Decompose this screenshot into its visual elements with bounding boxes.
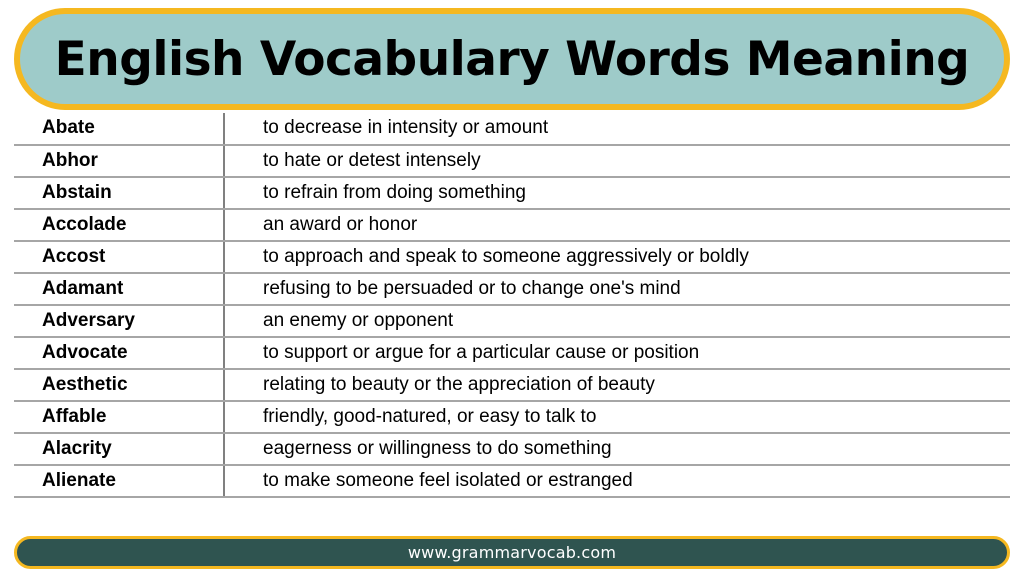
definition-cell: to decrease in intensity or amount <box>224 113 1010 145</box>
table-row: Adversaryan enemy or opponent <box>14 305 1010 337</box>
title-banner: English Vocabulary Words Meaning <box>14 8 1010 110</box>
vocabulary-word: Accost <box>14 247 223 268</box>
vocabulary-table-body: Abateto decrease in intensity or amountA… <box>14 113 1010 497</box>
vocabulary-word: Adversary <box>14 311 223 332</box>
word-cell: Affable <box>14 401 224 433</box>
page-title: English Vocabulary Words Meaning <box>55 36 970 83</box>
vocabulary-definition: an enemy or opponent <box>225 311 1010 332</box>
word-cell: Advocate <box>14 337 224 369</box>
vocabulary-word: Accolade <box>14 215 223 236</box>
word-cell: Accolade <box>14 209 224 241</box>
vocabulary-word: Advocate <box>14 343 223 364</box>
vocabulary-word: Adamant <box>14 279 223 300</box>
footer-bar: www.grammarvocab.com <box>14 536 1010 569</box>
table-row: Adamantrefusing to be persuaded or to ch… <box>14 273 1010 305</box>
table-row: Accostto approach and speak to someone a… <box>14 241 1010 273</box>
vocabulary-definition: to hate or detest intensely <box>225 151 1010 172</box>
table-row: Aestheticrelating to beauty or the appre… <box>14 369 1010 401</box>
word-cell: Alacrity <box>14 433 224 465</box>
table-row: Accoladean award or honor <box>14 209 1010 241</box>
table-row: Abhorto hate or detest intensely <box>14 145 1010 177</box>
definition-cell: friendly, good-natured, or easy to talk … <box>224 401 1010 433</box>
vocabulary-definition: to approach and speak to someone aggress… <box>225 247 1010 268</box>
word-cell: Aesthetic <box>14 369 224 401</box>
word-cell: Adversary <box>14 305 224 337</box>
vocabulary-word: Aesthetic <box>14 375 223 396</box>
definition-cell: an award or honor <box>224 209 1010 241</box>
vocabulary-infographic: English Vocabulary Words Meaning Abateto… <box>0 0 1024 576</box>
vocabulary-word: Affable <box>14 407 223 428</box>
vocabulary-definition: to decrease in intensity or amount <box>225 118 1010 139</box>
table-row: Alienateto make someone feel isolated or… <box>14 465 1010 497</box>
vocabulary-table: Abateto decrease in intensity or amountA… <box>14 113 1010 498</box>
word-cell: Adamant <box>14 273 224 305</box>
table-row: Abateto decrease in intensity or amount <box>14 113 1010 145</box>
word-cell: Abhor <box>14 145 224 177</box>
table-row: Advocateto support or argue for a partic… <box>14 337 1010 369</box>
word-cell: Alienate <box>14 465 224 497</box>
word-cell: Abate <box>14 113 224 145</box>
vocabulary-definition: an award or honor <box>225 215 1010 236</box>
definition-cell: an enemy or opponent <box>224 305 1010 337</box>
word-cell: Accost <box>14 241 224 273</box>
website-url: www.grammarvocab.com <box>408 545 616 561</box>
definition-cell: to support or argue for a particular cau… <box>224 337 1010 369</box>
vocabulary-definition: friendly, good-natured, or easy to talk … <box>225 407 1010 428</box>
definition-cell: refusing to be persuaded or to change on… <box>224 273 1010 305</box>
vocabulary-word: Alienate <box>14 471 223 492</box>
vocabulary-word: Abstain <box>14 183 223 204</box>
definition-cell: to approach and speak to someone aggress… <box>224 241 1010 273</box>
table-row: Abstainto refrain from doing something <box>14 177 1010 209</box>
vocabulary-word: Alacrity <box>14 439 223 460</box>
vocabulary-definition: eagerness or willingness to do something <box>225 439 1010 460</box>
word-cell: Abstain <box>14 177 224 209</box>
vocabulary-word: Abate <box>14 118 223 139</box>
definition-cell: to hate or detest intensely <box>224 145 1010 177</box>
table-row: Alacrityeagerness or willingness to do s… <box>14 433 1010 465</box>
vocabulary-definition: to support or argue for a particular cau… <box>225 343 1010 364</box>
definition-cell: eagerness or willingness to do something <box>224 433 1010 465</box>
definition-cell: relating to beauty or the appreciation o… <box>224 369 1010 401</box>
vocabulary-word: Abhor <box>14 151 223 172</box>
table-row: Affablefriendly, good-natured, or easy t… <box>14 401 1010 433</box>
vocabulary-definition: to refrain from doing something <box>225 183 1010 204</box>
definition-cell: to refrain from doing something <box>224 177 1010 209</box>
vocabulary-definition: to make someone feel isolated or estrang… <box>225 471 1010 492</box>
vocabulary-definition: refusing to be persuaded or to change on… <box>225 279 1010 300</box>
definition-cell: to make someone feel isolated or estrang… <box>224 465 1010 497</box>
vocabulary-definition: relating to beauty or the appreciation o… <box>225 375 1010 396</box>
